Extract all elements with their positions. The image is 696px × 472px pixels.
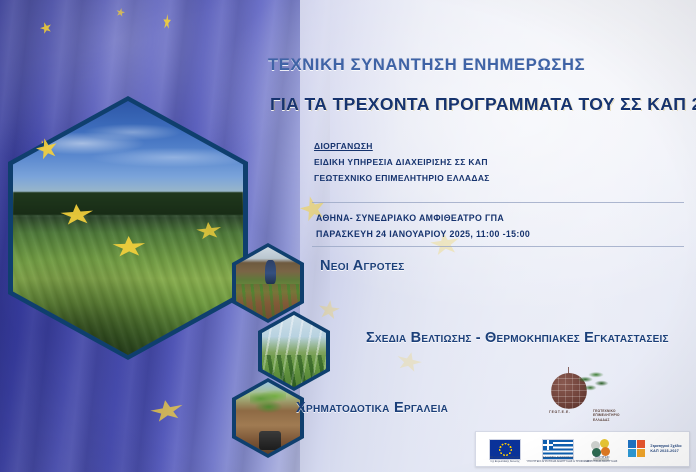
kap-text-line-2: ΚΑΠ 2023-2027: [650, 449, 681, 454]
organizer-line-1: ΕΙΔΙΚΗ ΥΠΗΡΕΣΙΑ ΔΙΑΧΕΙΡΙΣΗΣ ΣΣ ΚΑΠ: [314, 154, 490, 170]
seedling-image: [236, 382, 300, 454]
poster-title-line2: ΓΙΑ ΤΑ ΤΡΕΧΟΝΤΑ ΠΡΟΓΡΑΜΜΑΤΑ ΤΟΥ ΣΣ ΚΑΠ 2…: [270, 94, 696, 115]
ministry-emblem-logo: ΥΠΟΥΡΓΕΙΟ ΑΓΡΟΤΙΚΗΣ ΑΝΑΠΤΥΞΗΣ: [582, 432, 622, 466]
kap-mark-icon: [628, 440, 647, 458]
european-union-logo: Με τη συγχρηματοδότηση της Ευρωπαϊκής Έν…: [476, 432, 534, 466]
eu-logo-caption: Με τη συγχρηματοδότηση της Ευρωπαϊκής Έν…: [490, 456, 520, 463]
farm-machinery: [259, 431, 281, 450]
topic-improvement-plans: Σχεδια Βελτιωσης - Θερμοκηπιακες Εγκατασ…: [366, 330, 669, 346]
farmer-artwork: [236, 247, 300, 319]
greek-caption-line-2: ΥΠΟΥΡΓΕΙΟ ΑΓΡΟΤΙΚΗΣ ΑΝΑΠΤΥΞΗΣ & ΤΡΟΦΙΜΩΝ: [526, 460, 589, 463]
kap-quad-cyan: [628, 449, 636, 457]
venue-place: ΑΘΗΝΑ- ΣΥΝΕΔΡΙΑΚΟ ΑΜΦΙΘΕΑΤΡΟ ΓΠΑ: [316, 210, 530, 226]
eu-stars-ring: [499, 443, 512, 456]
geotee-olive-branch-icon: [575, 369, 609, 395]
eu-caption-line-2: της Ευρωπαϊκής Ένωσης: [490, 460, 520, 463]
ministry-caption-line-2: ΑΓΡΟΤΙΚΗΣ ΑΝΑΠΤΥΞΗΣ: [587, 460, 618, 463]
kap-logo-text: Στρατηγικό Σχέδιο ΚΑΠ 2023-2027: [650, 444, 681, 454]
kap-quad-red: [637, 440, 645, 448]
greek-logo-caption: ΕΛΛΗΝΙΚΗ ΔΗΜΟΚΡΑΤΙΑ ΥΠΟΥΡΓΕΙΟ ΑΓΡΟΤΙΚΗΣ …: [526, 456, 589, 463]
divider-top: [312, 202, 684, 203]
topic-financial-tools: Χρηματοδοτικα Εργαλεια: [296, 400, 448, 416]
poster-title-line1: ΤΕΧΝΙΚΗ ΣΥΝΑΝΤΗΣΗ ΕΝΗΜΕΡΩΣΗΣ: [268, 56, 585, 75]
divider-bottom: [312, 246, 684, 247]
geotee-name-line-3: ΕΛΛΑΔΑΣ: [593, 418, 620, 422]
emblem-circle-orange: [601, 447, 610, 456]
geotee-logo: ΓΕΩΤ.Ε.Ε. ΓΕΩΤΕΧΝΙΚΟ ΕΠΙΜΕΛΗΤΗΡΙΟ ΕΛΛΑΔΑ…: [545, 367, 621, 425]
organizer-label: ΔΙΟΡΓΑΝΩΣΗ: [314, 138, 490, 154]
poster-canvas: ΤΕΧΝΙΚΗ ΣΥΝΑΝΤΗΣΗ ΕΝΗΜΕΡΩΣΗΣ ΓΙΑ ΤΑ ΤΡΕΧ…: [0, 0, 696, 472]
seedling-leaves: [250, 388, 286, 415]
greenhouse-artwork: [262, 315, 326, 387]
venue-datetime: ΠΑΡΑΣΚΕΥΗ 24 ΙΑΝΟΥΑΡΙΟΥ 2025, 11:00 -15:…: [316, 226, 530, 242]
farmer-figure: [265, 260, 275, 284]
kap-quad-orange: [637, 449, 645, 457]
organizer-block: ΔΙΟΡΓΑΝΩΣΗ ΕΙΔΙΚΗ ΥΠΗΡΕΣΙΑ ΔΙΑΧΕΙΡΙΣΗΣ Σ…: [314, 138, 490, 186]
farmer-image: [236, 247, 300, 319]
hellenic-republic-logo: ΕΛΛΗΝΙΚΗ ΔΗΜΟΚΡΑΤΙΑ ΥΠΟΥΡΓΕΙΟ ΑΓΡΟΤΙΚΗΣ …: [534, 432, 582, 466]
kap-strategic-plan-logo: Στρατηγικό Σχέδιο ΚΑΠ 2023-2027: [622, 432, 688, 466]
seedling-artwork: [236, 382, 300, 454]
organizer-line-2: ΓΕΩΤΕΧΝΙΚΟ ΕΠΙΜΕΛΗΤΗΡΙΟ ΕΛΛΑΔΑΣ: [314, 170, 490, 186]
footer-logo-bar: Με τη συγχρηματοδότηση της Ευρωπαϊκής Έν…: [475, 431, 690, 467]
greek-flag-canton: [543, 440, 553, 451]
geotee-name: ΓΕΩΤΕΧΝΙΚΟ ΕΠΙΜΕΛΗΤΗΡΙΟ ΕΛΛΑΔΑΣ: [593, 409, 620, 422]
geotee-acronym: ΓΕΩΤ.Ε.Ε.: [549, 410, 570, 414]
ministry-logo-caption: ΥΠΟΥΡΓΕΙΟ ΑΓΡΟΤΙΚΗΣ ΑΝΑΠΤΥΞΗΣ: [587, 456, 618, 463]
kap-quad-blue: [628, 440, 636, 448]
greenhouse-image: [262, 315, 326, 387]
topic-new-farmers: Νεοι Αγροτες: [320, 258, 405, 274]
venue-block: ΑΘΗΝΑ- ΣΥΝΕΔΡΙΑΚΟ ΑΜΦΙΘΕΑΤΡΟ ΓΠΑ ΠΑΡΑΣΚΕ…: [316, 210, 530, 242]
